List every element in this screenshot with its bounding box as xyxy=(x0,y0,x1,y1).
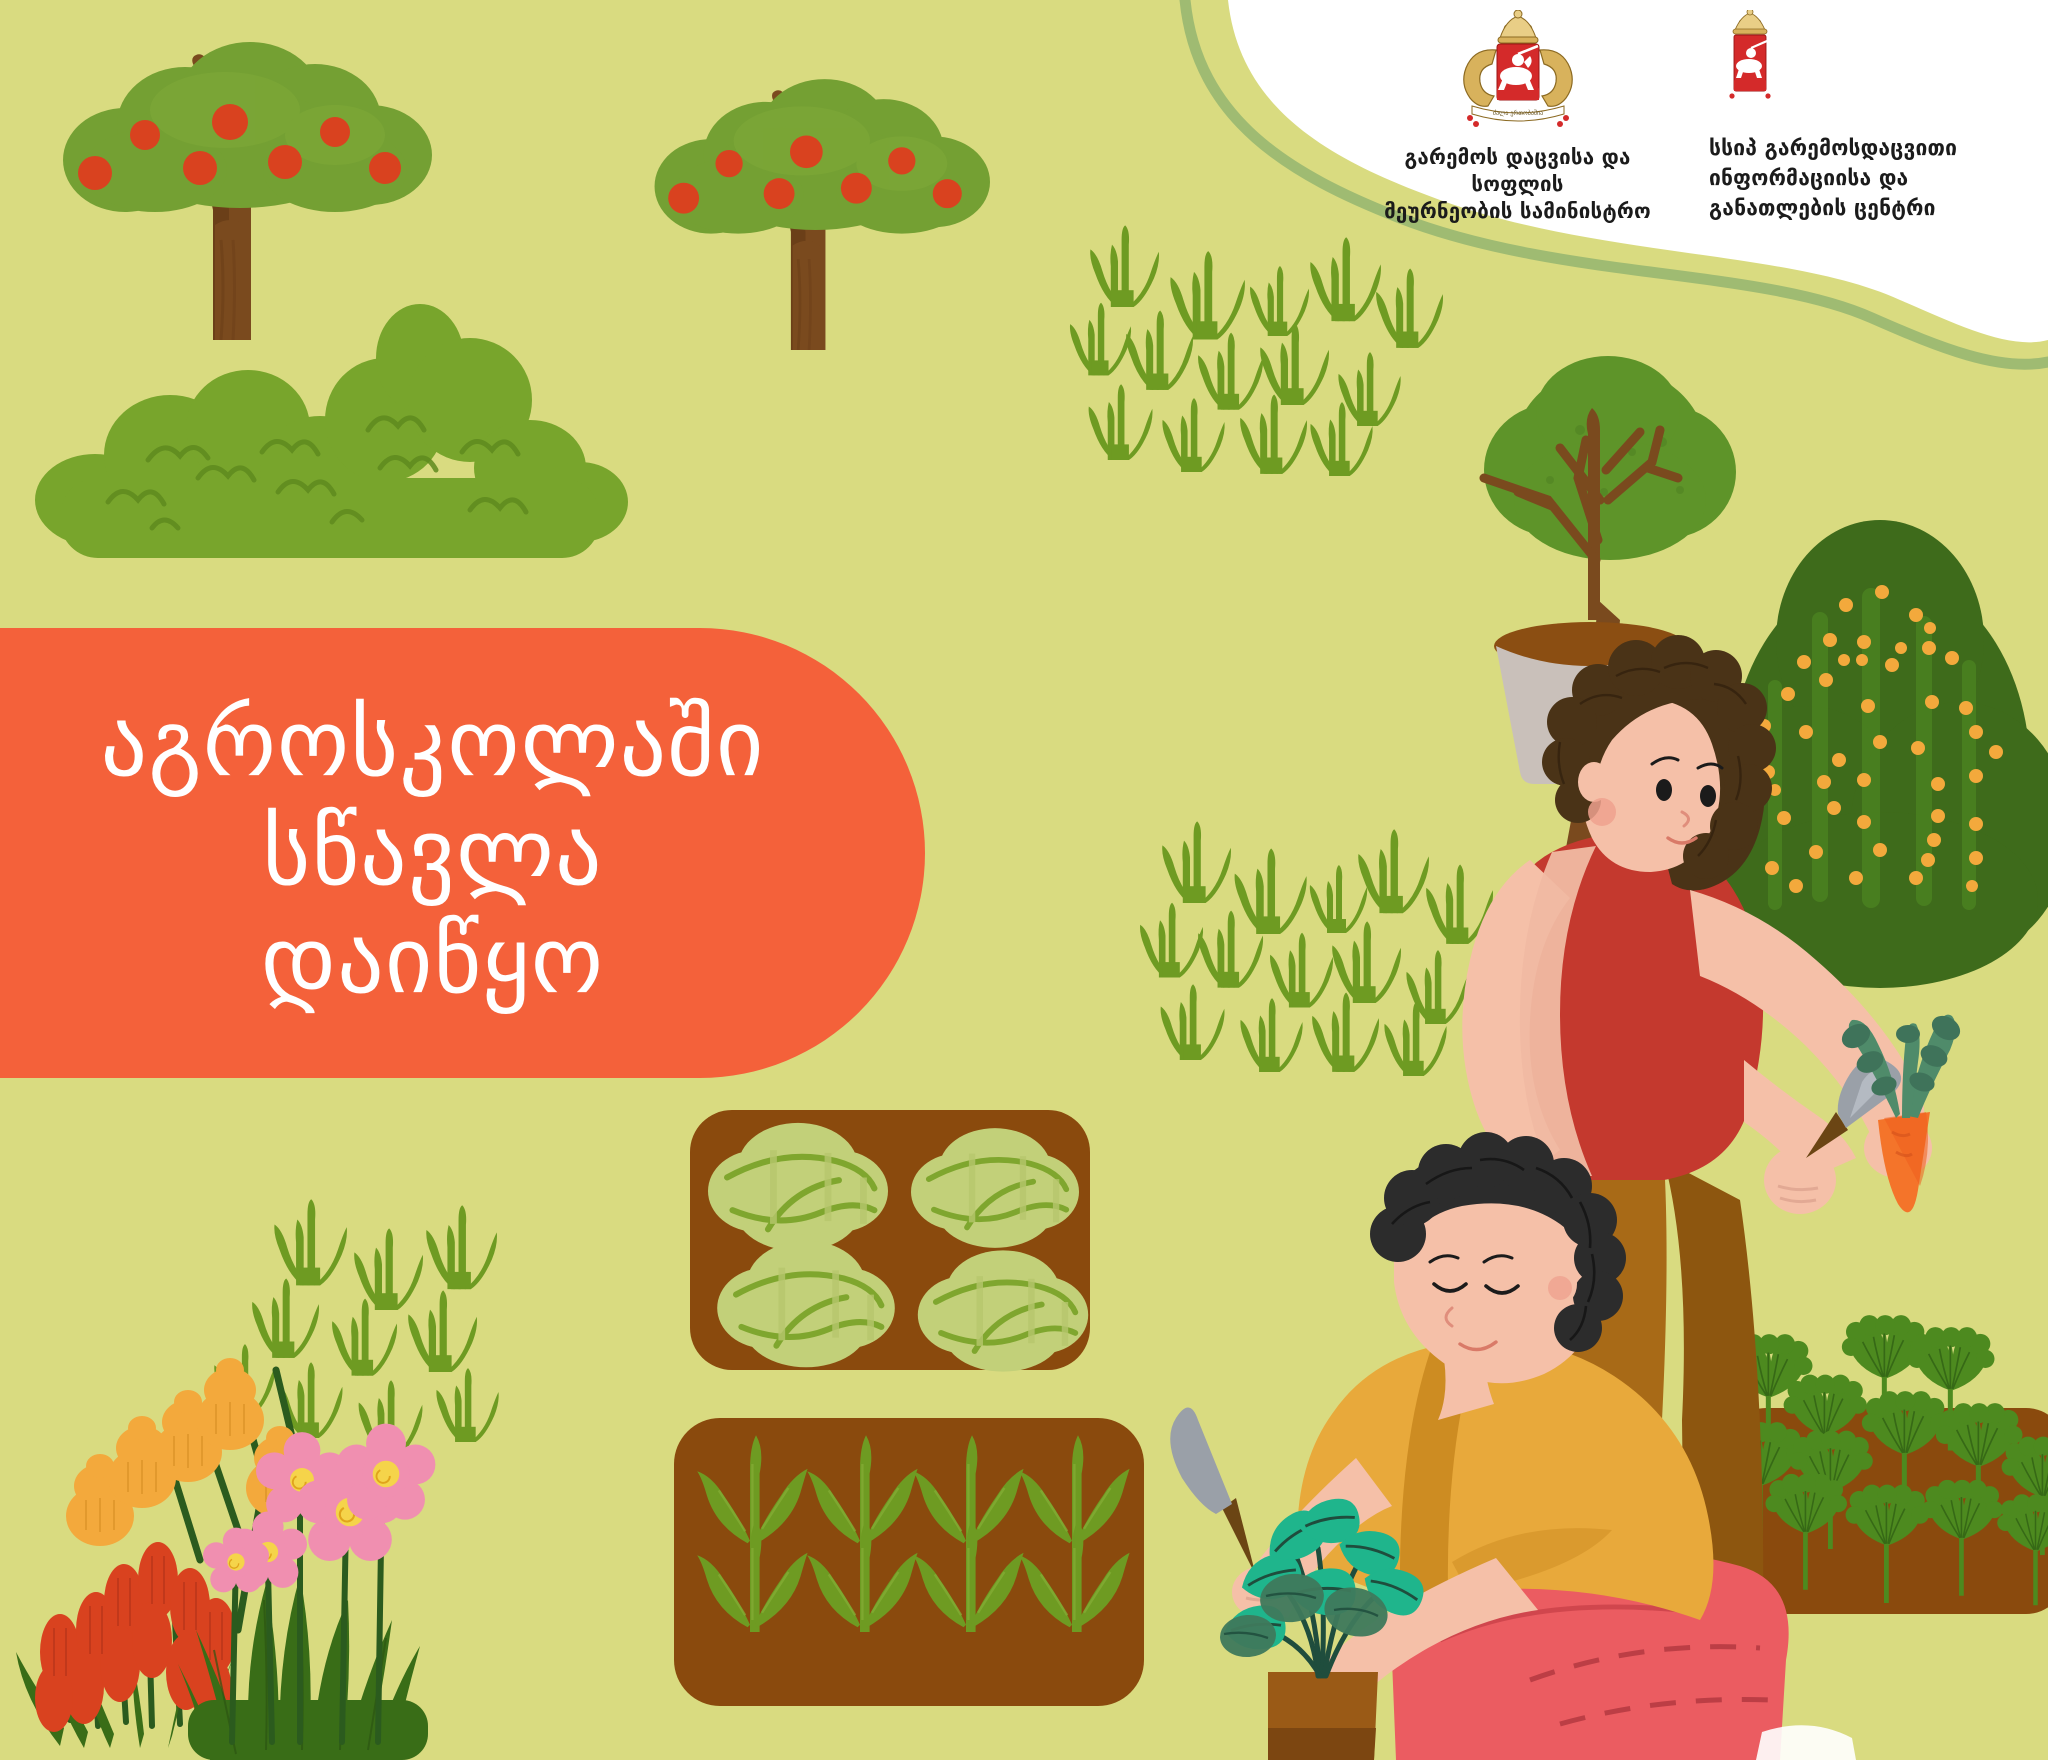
georgia-shield-emblem-icon xyxy=(1721,10,1779,122)
center-logo-caption: სსიპ გარემოსდაცვითი ინფორმაციისა და განა… xyxy=(1709,134,1957,223)
crown-icon xyxy=(1498,10,1538,43)
crown-icon xyxy=(1733,10,1767,34)
title-banner: აგროსკოლაში სწავლა დაიწყო xyxy=(0,628,925,1078)
header-logos: ძალა ერთობაშია გარემოს დაცვისა და სოფლის… xyxy=(1380,10,2000,225)
center-logo-block: სსიპ გარემოსდაცვითი ინფორმაციისა და განა… xyxy=(1709,10,1989,223)
svg-text:ძალა ერთობაშია: ძალა ერთობაშია xyxy=(1492,110,1542,117)
cabbage-garden-bed xyxy=(690,1110,1090,1372)
ministry-logo-caption: გარემოს დაცვისა და სოფლის მეურნეობის სამ… xyxy=(1380,144,1655,225)
poster-canvas: აგროსკოლაში სწავლა დაიწყო xyxy=(0,0,2048,1760)
trowel-hand xyxy=(1764,1146,1836,1214)
sprout-garden-bed xyxy=(674,1418,1144,1706)
georgia-coat-of-arms-icon: ძალა ერთობაშია xyxy=(1454,10,1582,132)
ministry-logo-block: ძალა ერთობაშია გარემოს დაცვისა და სოფლის… xyxy=(1380,10,1655,225)
page-title: აგროსკოლაში სწავლა დაიწყო xyxy=(61,690,825,1016)
